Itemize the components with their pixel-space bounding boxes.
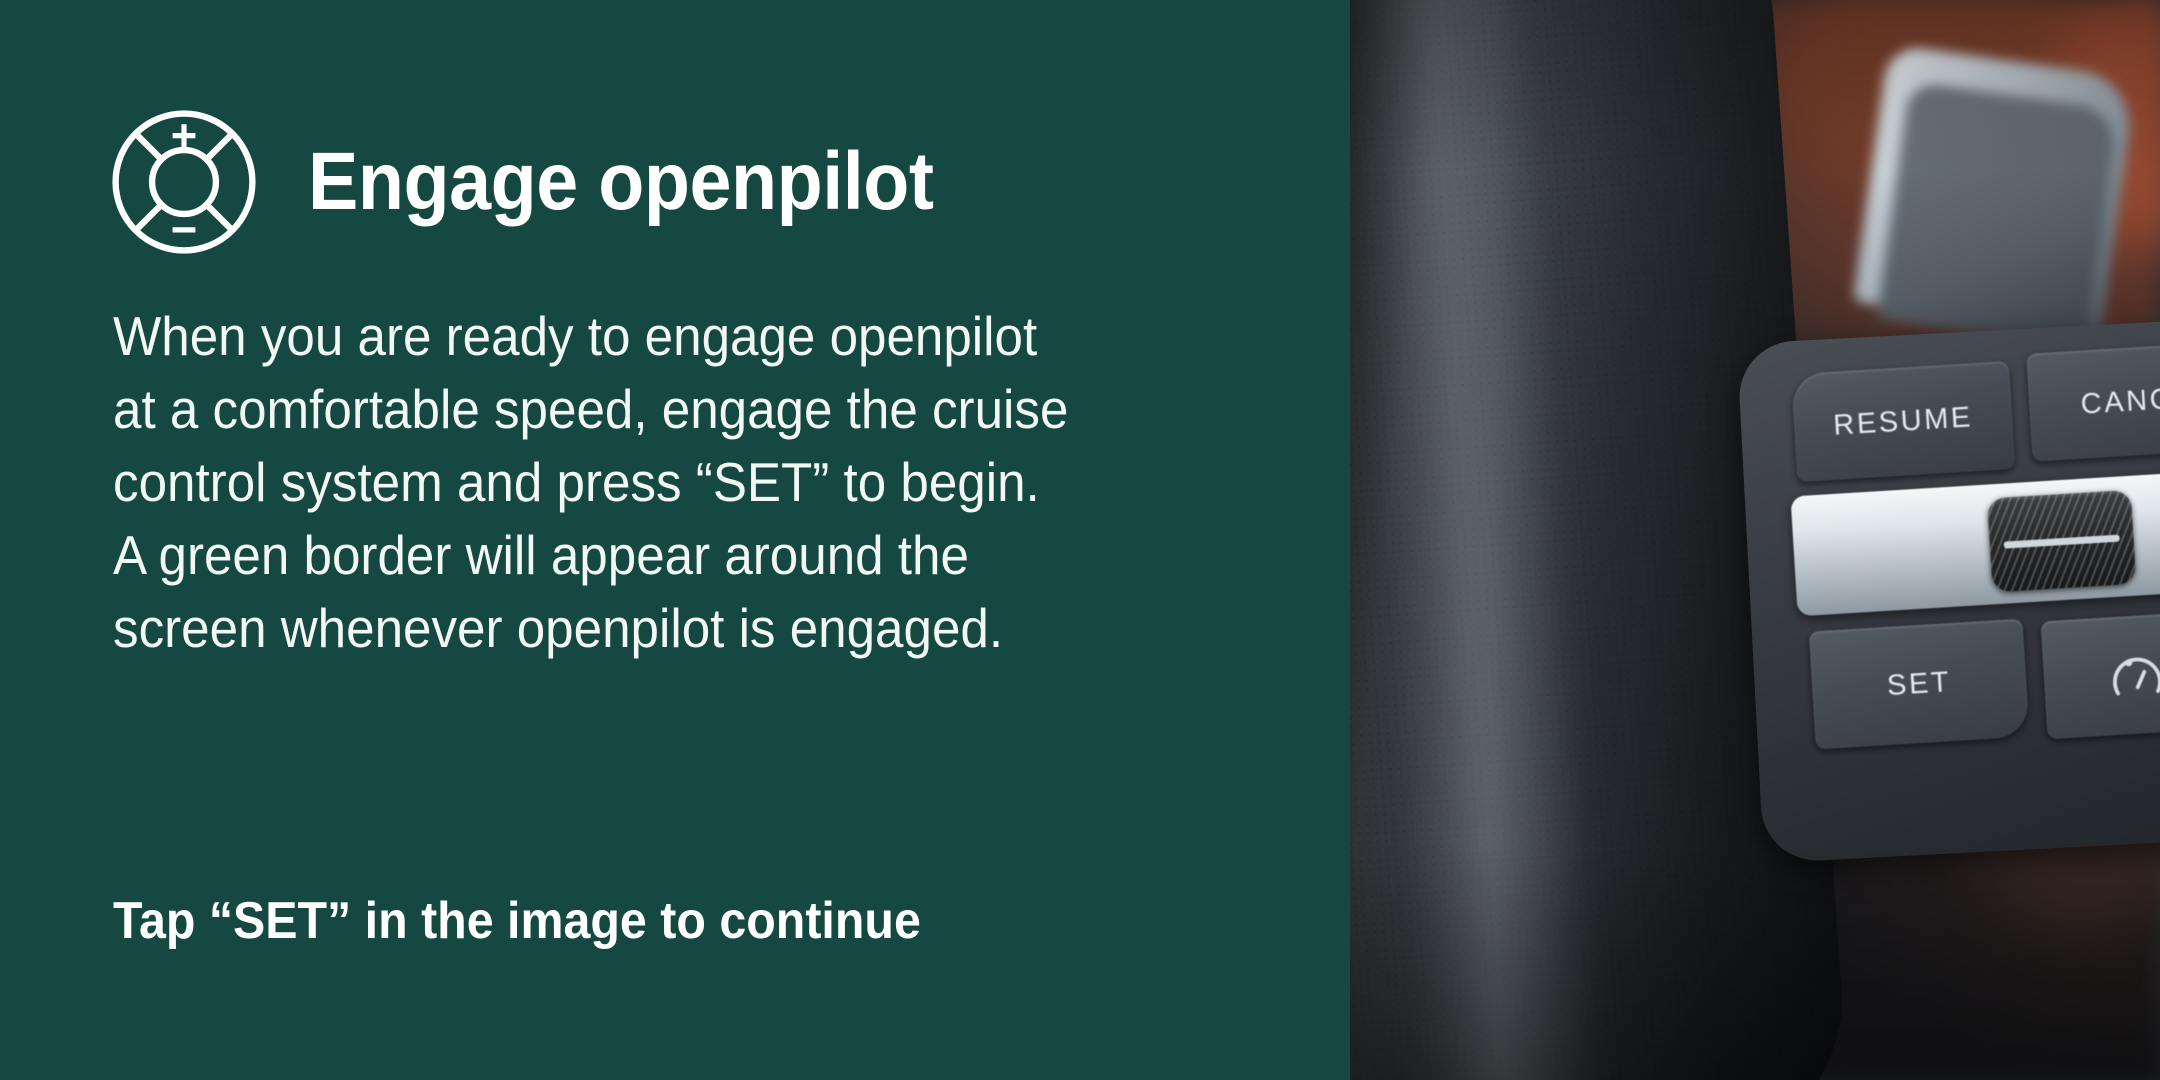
cancel-button[interactable]: CANCEL xyxy=(2026,340,2160,462)
instruction-body: When you are ready to engage openpilot a… xyxy=(113,300,1210,665)
speed-limiter-button[interactable] xyxy=(2041,610,2160,739)
steering-wheel-photo[interactable]: RESUME CANCEL + − SET xyxy=(1350,0,2160,1080)
paddle-shifter xyxy=(1853,44,2137,336)
instruction-panel: Engage openpilot When you are ready to e… xyxy=(0,0,1350,1080)
instruction-line: screen whenever openpilot is engaged. xyxy=(113,592,1210,665)
cruise-button-cluster: RESUME CANCEL + − SET xyxy=(1768,335,2160,825)
cruise-control-icon xyxy=(108,106,260,258)
instruction-line: A green border will appear around the xyxy=(113,519,1210,592)
rocker-knurl[interactable] xyxy=(1987,490,2136,593)
instruction-line: at a comfortable speed, engage the cruis… xyxy=(113,373,1210,446)
instruction-line: control system and press “SET” to begin. xyxy=(113,446,1210,519)
onboarding-screen: Engage openpilot When you are ready to e… xyxy=(0,0,2160,1080)
speed-limiter-icon xyxy=(2105,643,2160,707)
resume-button[interactable]: RESUME xyxy=(1791,361,2015,482)
call-to-action-text: Tap “SET” in the image to continue xyxy=(113,895,921,947)
set-button[interactable]: SET xyxy=(1809,619,2030,750)
page-title: Engage openpilot xyxy=(308,141,933,223)
instruction-line: When you are ready to engage openpilot xyxy=(113,300,1210,373)
panel-header: Engage openpilot xyxy=(108,104,988,260)
speed-rocker-switch[interactable]: + − xyxy=(1790,467,2160,616)
